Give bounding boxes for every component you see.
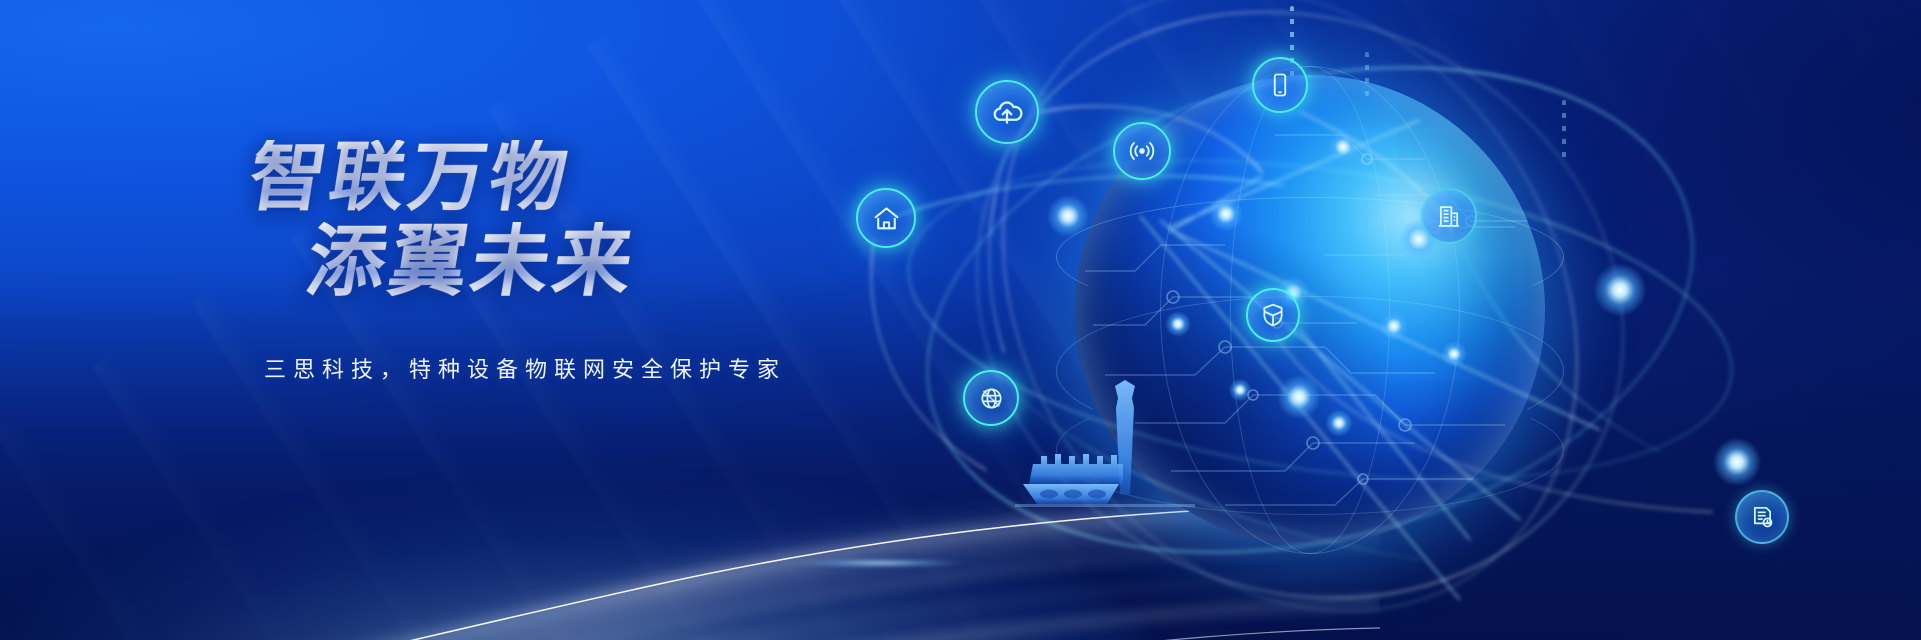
headline-line-1: 智联万物 xyxy=(244,140,1016,216)
smartphone-icon[interactable] xyxy=(1252,57,1308,113)
cloud-upload-icon[interactable] xyxy=(975,80,1039,144)
shield-icon[interactable] xyxy=(1246,288,1300,342)
hero-banner: 智联万物 添翼未来 三思科技，特种设备物联网安全保护专家 xyxy=(0,0,1921,640)
dotted-line-decor xyxy=(1562,100,1566,160)
building-icon[interactable] xyxy=(1421,188,1477,244)
headline-line-2: 添翼未来 xyxy=(302,222,1016,300)
hero-subtitle: 三思科技，特种设备物联网安全保护专家 xyxy=(264,352,1010,384)
dotted-line-decor xyxy=(1365,52,1369,96)
hero-copy: 智联万物 添翼未来 三思科技，特种设备物联网安全保护专家 xyxy=(250,140,1010,384)
document-report-icon[interactable] xyxy=(1735,490,1789,544)
ship-crane-silhouette xyxy=(1015,368,1195,518)
broadcast-signal-icon[interactable] xyxy=(1113,122,1171,180)
